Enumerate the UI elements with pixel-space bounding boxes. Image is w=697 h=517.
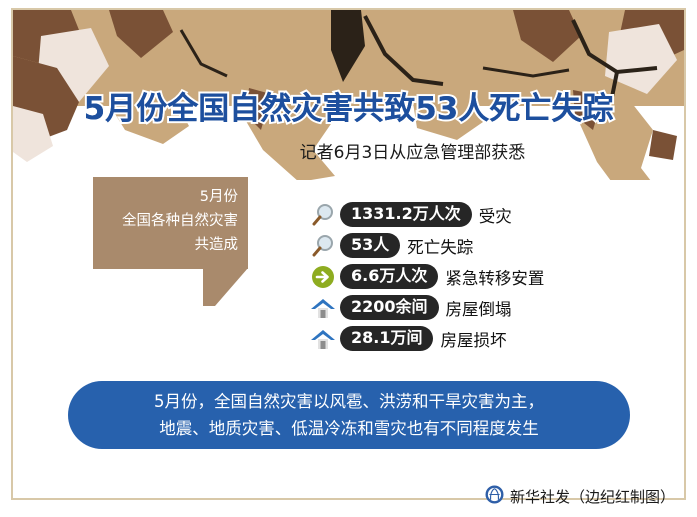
stat-label: 房屋损坏 <box>440 327 506 351</box>
statistics-list: 1331.2万人次 受灾 53人 死亡失踪 6.6万人次 紧急转移安置 <box>306 199 544 354</box>
stat-label: 房屋倒塌 <box>446 296 512 320</box>
magnifier-icon <box>306 232 340 260</box>
summary-banner-text: 5月份，全国自然灾害以风雹、洪涝和干旱灾害为主， 地震、地质灾害、低温冷冻和雪灾… <box>154 388 544 442</box>
callout-bubble-text: 5月份 全国各种自然灾害 共造成 <box>99 185 238 257</box>
xinhua-logo-icon <box>485 485 504 508</box>
list-item: 53人 死亡失踪 <box>306 230 544 261</box>
stat-value: 6.6万人次 <box>340 264 438 289</box>
stat-value: 28.1万间 <box>340 326 433 351</box>
list-item: 6.6万人次 紧急转移安置 <box>306 261 544 292</box>
stat-value: 1331.2万人次 <box>340 202 472 227</box>
stat-label: 受灾 <box>479 203 512 227</box>
page-subtitle: 记者6月3日从应急管理部获悉 <box>0 138 697 163</box>
callout-bubble: 5月份 全国各种自然灾害 共造成 <box>93 177 248 269</box>
list-item: 1331.2万人次 受灾 <box>306 199 544 230</box>
list-item: 28.1万间 房屋损坏 <box>306 323 544 354</box>
stat-value: 2200余间 <box>340 295 439 320</box>
house-icon <box>306 325 340 353</box>
stat-value: 53人 <box>340 233 400 258</box>
footer-credit: 新华社发（边纪红制图） <box>485 485 675 508</box>
infographic-root: 5月份全国自然灾害共致53人死亡失踪 5月份全国自然灾害共致53人死亡失踪 记者… <box>0 0 697 517</box>
magnifier-icon <box>306 201 340 229</box>
stat-label: 死亡失踪 <box>407 234 473 258</box>
footer-credit-text: 新华社发（边纪红制图） <box>510 486 675 507</box>
callout-bubble-tail <box>203 268 248 306</box>
stat-label: 紧急转移安置 <box>445 265 544 289</box>
summary-banner: 5月份，全国自然灾害以风雹、洪涝和干旱灾害为主， 地震、地质灾害、低温冷冻和雪灾… <box>68 381 630 449</box>
arrow-circle-icon <box>306 263 340 291</box>
list-item: 2200余间 房屋倒塌 <box>306 292 544 323</box>
house-icon <box>306 294 340 322</box>
page-title: 5月份全国自然灾害共致53人死亡失踪 <box>0 83 697 128</box>
